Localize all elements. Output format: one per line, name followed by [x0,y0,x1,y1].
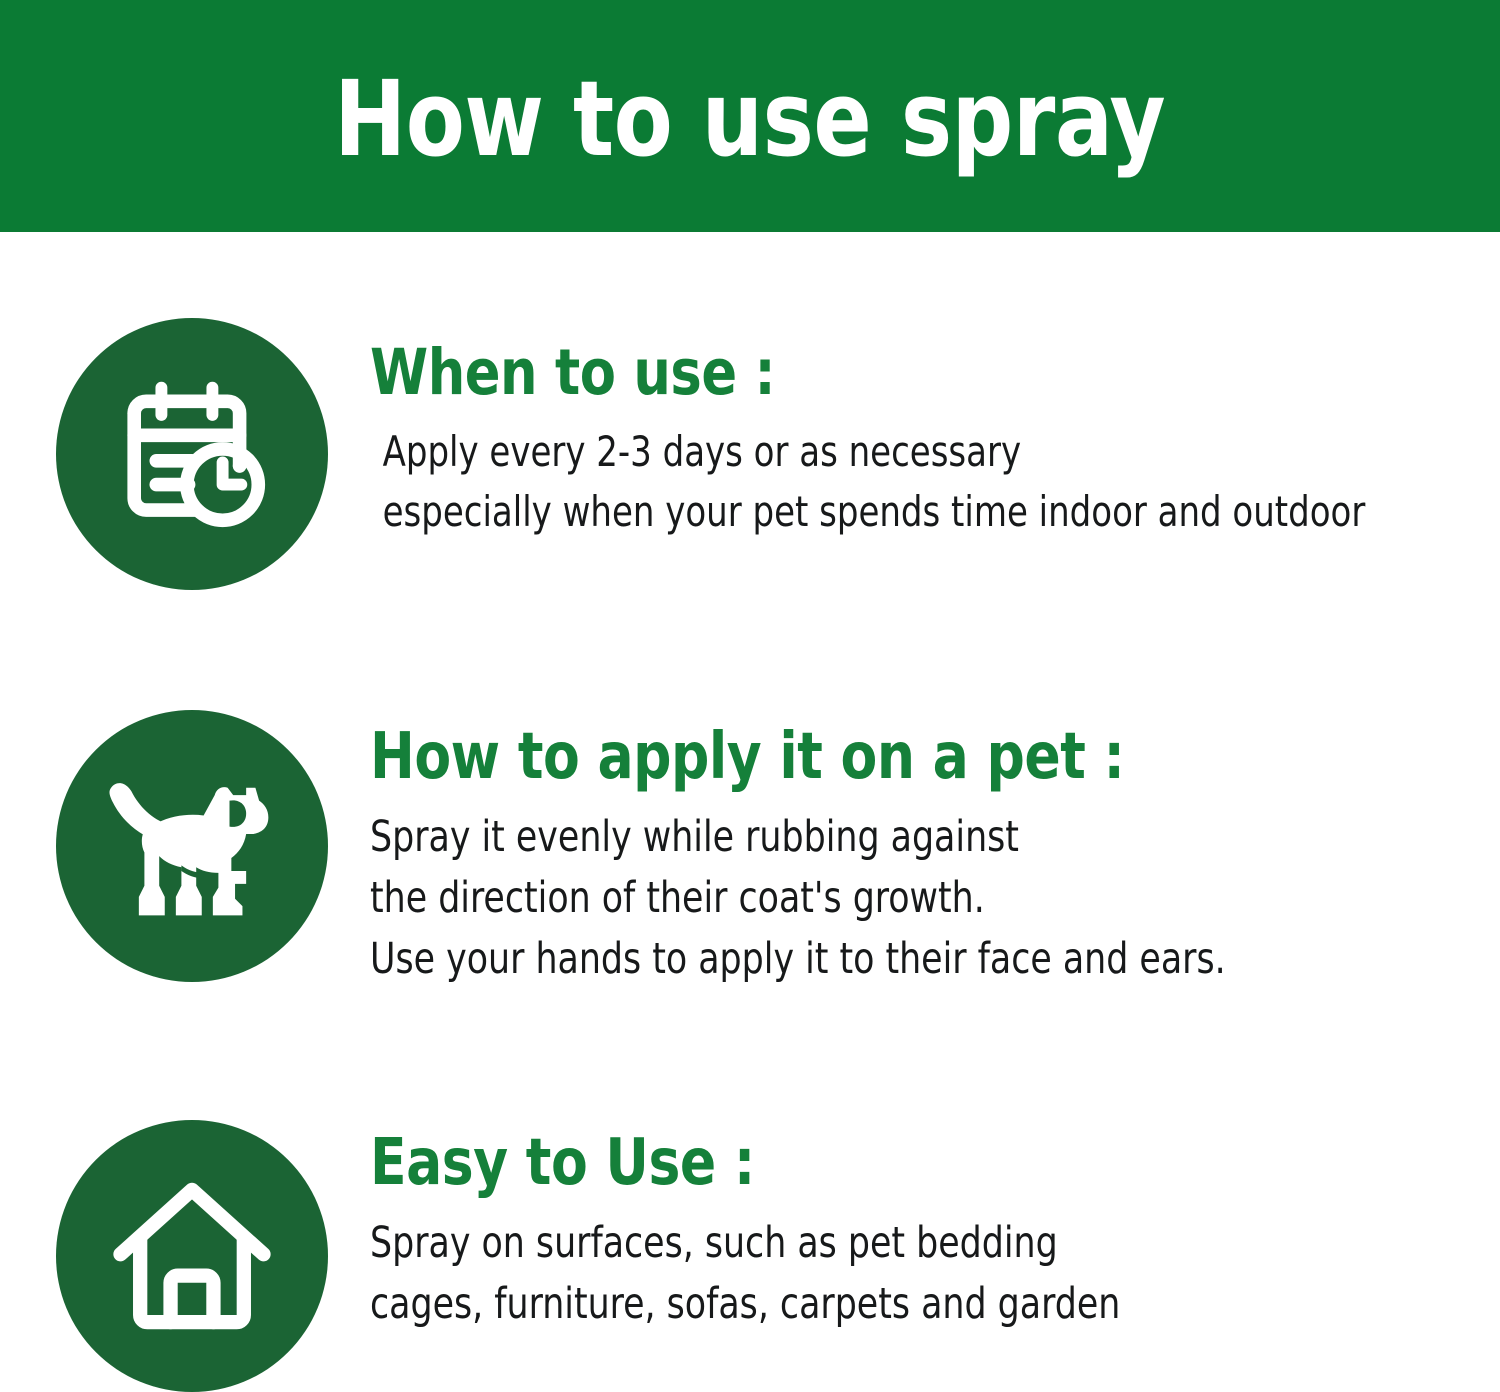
section-text: How to apply it on a pet : Spray it even… [370,710,1500,990]
section-body: Apply every 2-3 days or as necessary esp… [370,422,1387,541]
body-line: Apply every 2-3 days or as necessary [383,422,1387,482]
calendar-clock-icon [107,369,277,539]
header-banner: How to use spray [0,0,1500,232]
body-line: Use your hands to apply it to their face… [370,929,1387,990]
section-body: Spray on surfaces, such as pet bedding c… [370,1213,1387,1335]
dog-icon [100,766,285,926]
section-when-to-use: When to use : Apply every 2-3 days or as… [0,318,1500,590]
section-heading: How to apply it on a pet : [370,724,1421,791]
icon-container [0,318,370,590]
house-icon [102,1172,282,1340]
icon-badge-circle [56,1120,328,1392]
body-line: especially when your pet spends time ind… [383,482,1387,542]
icon-badge-circle [56,710,328,982]
page-title: How to use spray [334,67,1165,171]
section-text: When to use : Apply every 2-3 days or as… [370,318,1500,541]
sections-container: When to use : Apply every 2-3 days or as… [0,232,1500,1391]
section-easy-to-use: Easy to Use : Spray on surfaces, such as… [0,1120,1500,1392]
section-heading: Easy to Use : [370,1130,1421,1197]
section-heading: When to use : [370,340,1421,406]
section-body: Spray it evenly while rubbing against th… [370,807,1387,990]
icon-container [0,710,370,982]
icon-badge-circle [56,318,328,590]
icon-container [0,1120,370,1392]
body-line: Spray on surfaces, such as pet bedding [370,1213,1387,1274]
body-line: Spray it evenly while rubbing against [370,807,1387,868]
body-line: cages, furniture, sofas, carpets and gar… [370,1274,1387,1335]
body-line: the direction of their coat's growth. [370,868,1387,929]
section-text: Easy to Use : Spray on surfaces, such as… [370,1120,1500,1335]
section-how-to-apply: How to apply it on a pet : Spray it even… [0,710,1500,990]
